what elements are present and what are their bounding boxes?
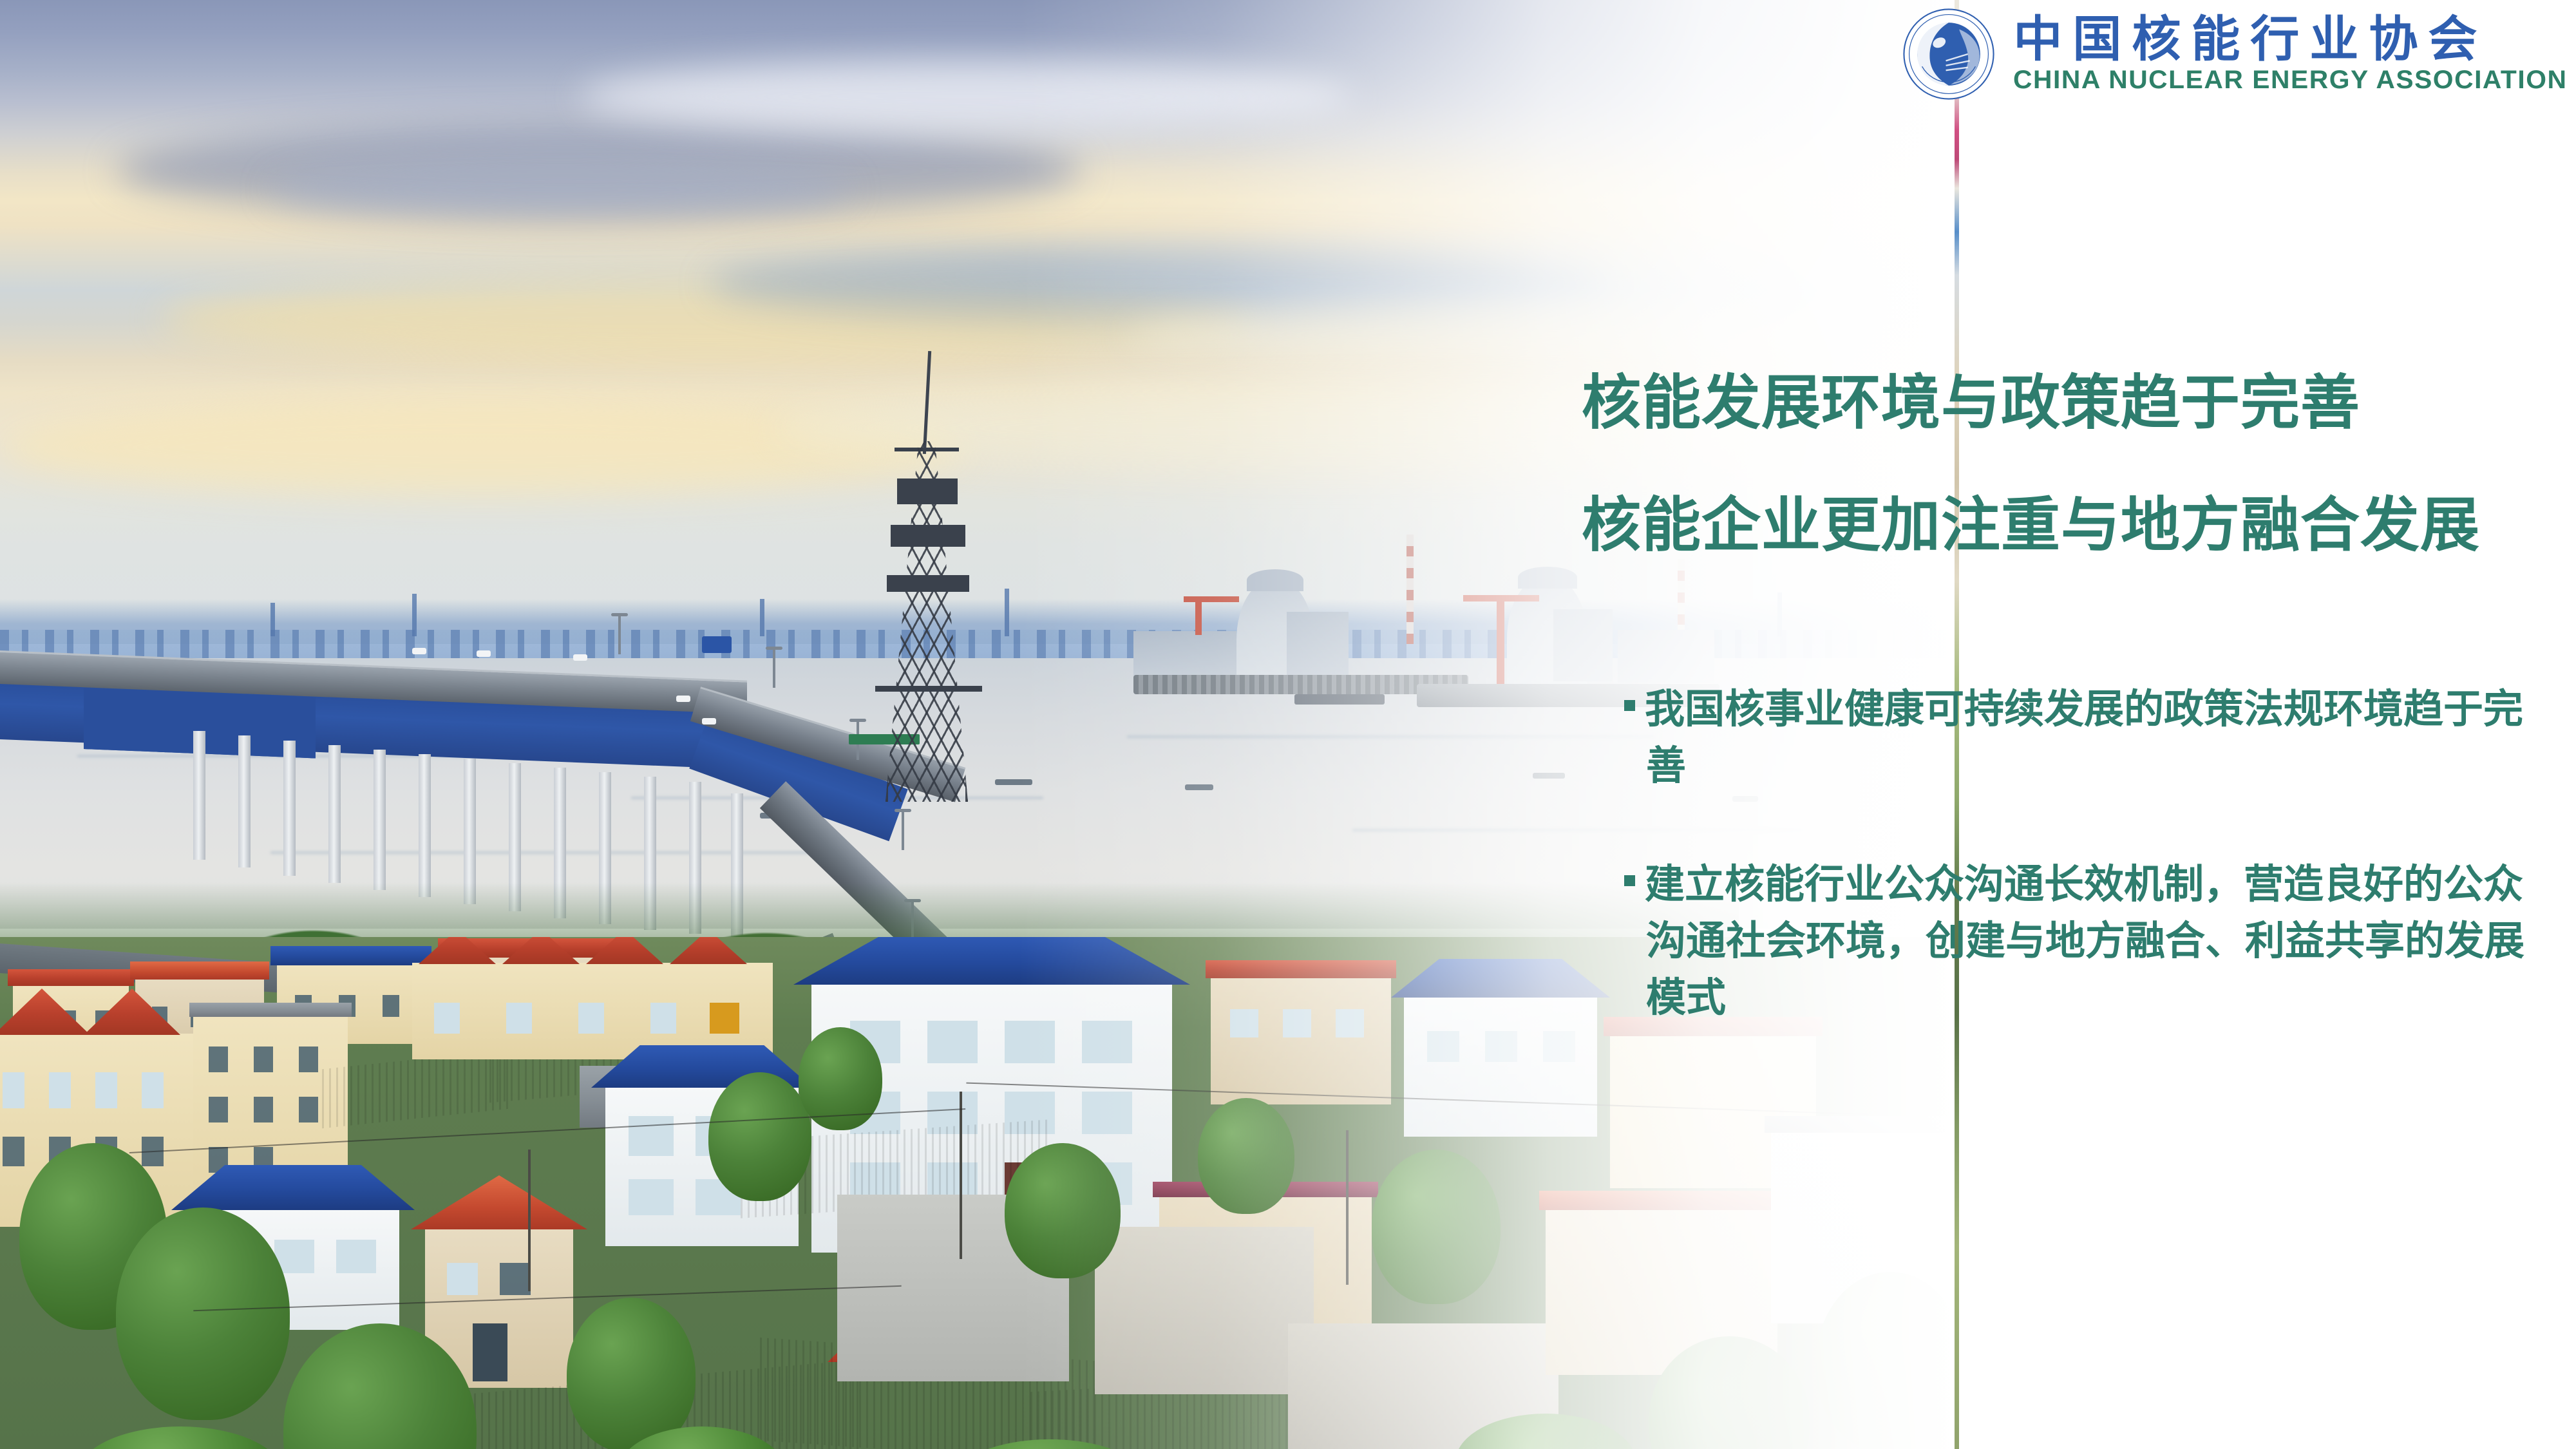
- tree: [567, 1298, 696, 1449]
- tree: [1198, 1098, 1294, 1214]
- port-crane-mast: [1497, 595, 1504, 692]
- cargo-ship: [1294, 694, 1385, 705]
- vehicle: [573, 654, 587, 661]
- terraced-houses: [412, 963, 773, 1059]
- utility-pole: [960, 1092, 962, 1259]
- bullet-item-2: 建立核能行业公众沟通长效机制，营造良好的公众沟通社会环境，创建与地方融合、利益共…: [1646, 857, 2561, 1027]
- highway-sign: [702, 636, 732, 653]
- street-lamp: [618, 616, 621, 654]
- vehicle: [702, 718, 716, 724]
- tower-antenna-array: [891, 525, 965, 547]
- house: [1404, 995, 1597, 1137]
- tree: [708, 1072, 811, 1201]
- bullet-item-1: 我国核事业健康可持续发展的政策法规环境趋于完善: [1646, 681, 2561, 795]
- boat: [1533, 773, 1565, 779]
- port-crane-mast: [1195, 596, 1202, 635]
- slide-text-content: 核能发展环境与政策趋于完善 核能企业更加注重与地方融合发展 我国核事业健康可持续…: [1577, 0, 2562, 1449]
- bullet-marker-icon: [1624, 875, 1635, 886]
- headline-secondary: 核能企业更加注重与地方融合发展: [1582, 495, 2480, 557]
- concrete-building: [1095, 1227, 1314, 1394]
- tower-platform: [875, 686, 982, 692]
- tree: [1005, 1143, 1121, 1278]
- tree: [1372, 1150, 1501, 1304]
- tower-antenna-array: [887, 575, 969, 592]
- utility-pole: [1346, 1130, 1349, 1285]
- slide-root: 中国核能行业协会 CHINA NUCLEAR ENERGY ASSOCIATIO…: [0, 0, 2576, 1449]
- bullet-text-1: 我国核事业健康可持续发展的政策法规环境趋于完善: [1645, 687, 2523, 788]
- reactor-dome-cap: [1518, 567, 1577, 589]
- port-crane-jib: [1184, 596, 1239, 602]
- house: [1211, 976, 1391, 1104]
- street-lamp: [902, 811, 904, 850]
- turbine-hall: [1287, 612, 1349, 683]
- cloud-band: [270, 161, 850, 219]
- exhaust-stack: [1406, 535, 1414, 644]
- tower-mast: [923, 351, 931, 454]
- tree: [116, 1207, 290, 1420]
- vehicle: [477, 650, 491, 657]
- reactor-dome-cap: [1247, 569, 1303, 591]
- vehicle: [412, 648, 426, 654]
- utility-pole: [528, 1150, 531, 1291]
- headline-primary: 核能发展环境与政策趋于完善: [1582, 372, 2360, 435]
- port-crane-jib: [1463, 595, 1539, 601]
- telecom-tower: [866, 351, 989, 802]
- bullet-marker-icon: [1624, 700, 1635, 711]
- bullet-text-2: 建立核能行业公众沟通长效机制，营造良好的公众沟通社会环境，创建与地方融合、利益共…: [1645, 862, 2524, 1020]
- street-lamp: [773, 649, 775, 688]
- boat: [1185, 784, 1213, 790]
- vehicle: [676, 696, 690, 702]
- tower-antenna-array: [897, 478, 958, 504]
- cloud-band: [580, 61, 1352, 132]
